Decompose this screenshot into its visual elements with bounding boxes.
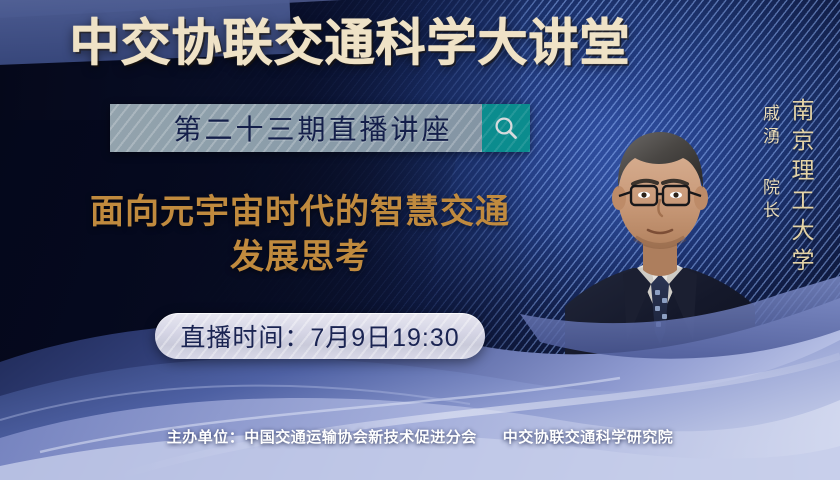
search-icon [493,115,519,141]
page-title: 中交协联交通科学大讲堂 [0,18,700,68]
search-icon-container[interactable] [482,104,530,152]
lecture-title-line2: 发展思考 [40,235,560,280]
footer-organizers: 主办单位：中国交通运输协会新技术促进分会中交协联交通科学研究院 [0,426,840,447]
silk-ribbon-decoration [0,270,840,480]
lecture-title-line1: 面向元宇宙时代的智慧交通 [40,190,560,235]
footer-org1: 中国交通运输协会新技术促进分会 [244,429,477,446]
episode-bar-body: 第二十三期直播讲座 [110,104,482,152]
broadcast-time-label: 直播时间：7月9日19:30 [180,318,459,354]
poster-canvas: 中交协联交通科学大讲堂 第二十三期直播讲座 面向元宇宙时代的智慧交通 发展思考 … [0,0,840,480]
speaker-university: 南京理工大学 [784,98,818,278]
episode-label: 第二十三期直播讲座 [139,108,452,148]
lecture-title: 面向元宇宙时代的智慧交通 发展思考 [40,190,560,280]
speaker-role: 院长 [757,178,782,224]
episode-bar[interactable]: 第二十三期直播讲座 [110,104,530,152]
speaker-name: 戚湧 [757,104,782,150]
footer-org2: 中交协联交通科学研究院 [503,429,674,446]
broadcast-time-badge: 直播时间：7月9日19:30 [155,313,485,359]
footer-prefix: 主办单位： [167,429,245,446]
